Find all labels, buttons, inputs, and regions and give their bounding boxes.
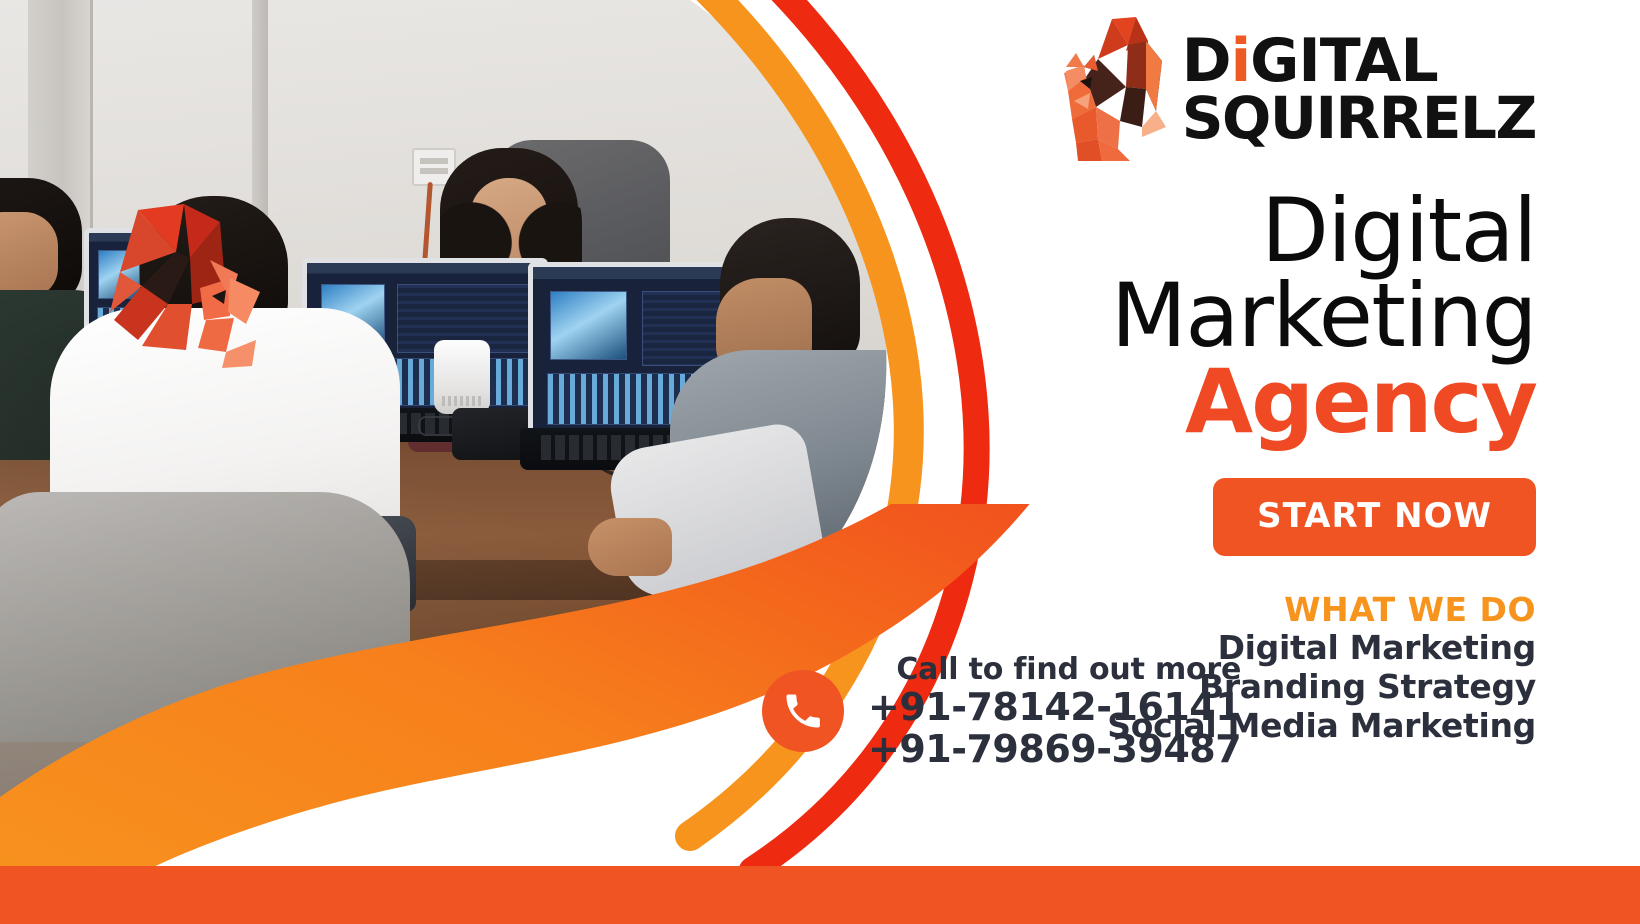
low-poly-squirrel-icon xyxy=(1050,15,1168,165)
headline-line-3: Agency xyxy=(896,359,1536,444)
headline-line-2: Marketing xyxy=(896,273,1536,358)
phone-icon xyxy=(762,670,844,752)
brand-word-digital: DiGITAL xyxy=(1182,33,1536,91)
headline-line-1: Digital xyxy=(896,188,1536,273)
brand-word-squirrelz: SQUIRRELZ xyxy=(1182,91,1536,147)
content-column: DiGITAL SQUIRRELZ Digital Marketing Agen… xyxy=(896,0,1536,746)
phone-number-secondary[interactable]: +91-79869-39487 xyxy=(868,729,1241,771)
marketing-banner: DiGITAL SQUIRRELZ Digital Marketing Agen… xyxy=(0,0,1640,924)
bottom-accent-bar xyxy=(0,866,1640,924)
page-title: Digital Marketing Agency xyxy=(896,188,1536,444)
phone-number-primary[interactable]: +91-78142-16141 xyxy=(868,687,1241,729)
services-heading: WHAT WE DO xyxy=(896,590,1536,629)
start-now-button[interactable]: START NOW xyxy=(1213,478,1536,556)
brand-logo[interactable]: DiGITAL SQUIRRELZ xyxy=(896,0,1536,170)
call-label: Call to find out more xyxy=(868,652,1241,687)
cta-container: START NOW xyxy=(896,478,1536,556)
brand-wordmark: DiGITAL SQUIRRELZ xyxy=(1182,33,1536,146)
contact-text: Call to find out more +91-78142-16141 +9… xyxy=(868,652,1241,771)
contact-block[interactable]: Call to find out more +91-78142-16141 +9… xyxy=(762,652,1241,771)
